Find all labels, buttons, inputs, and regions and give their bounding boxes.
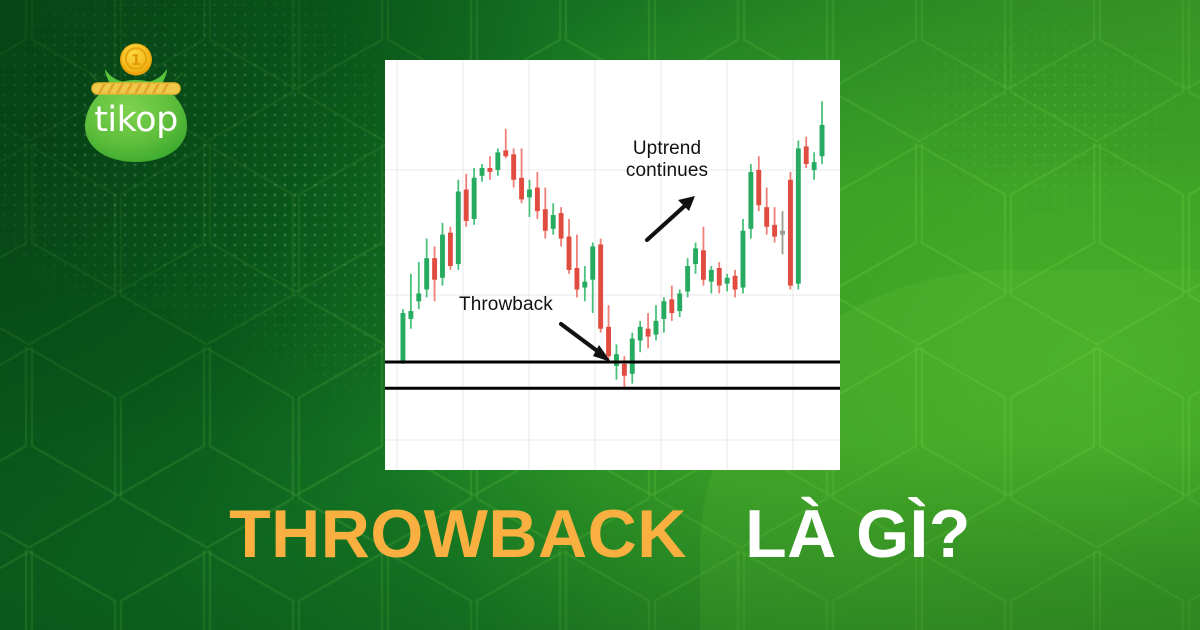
chart-canvas	[385, 60, 840, 470]
dot-halftone-pattern-tertiary	[810, 0, 1200, 300]
brand-logo[interactable]: 1 tikop	[75, 36, 197, 166]
annotation-uptrend-label: Uptrend continues	[613, 138, 721, 182]
page-title-highlight: THROWBACK	[229, 496, 687, 572]
page-title-rest: LÀ GÌ?	[745, 496, 971, 572]
brand-name: tikop	[75, 100, 197, 140]
annotation-throwback-label: Throwback	[459, 294, 553, 316]
svg-text:1: 1	[131, 51, 141, 69]
candlestick-chart: Uptrend continues Throwback	[385, 60, 840, 470]
page-title: THROWBACK LÀ GÌ?	[0, 495, 1200, 573]
